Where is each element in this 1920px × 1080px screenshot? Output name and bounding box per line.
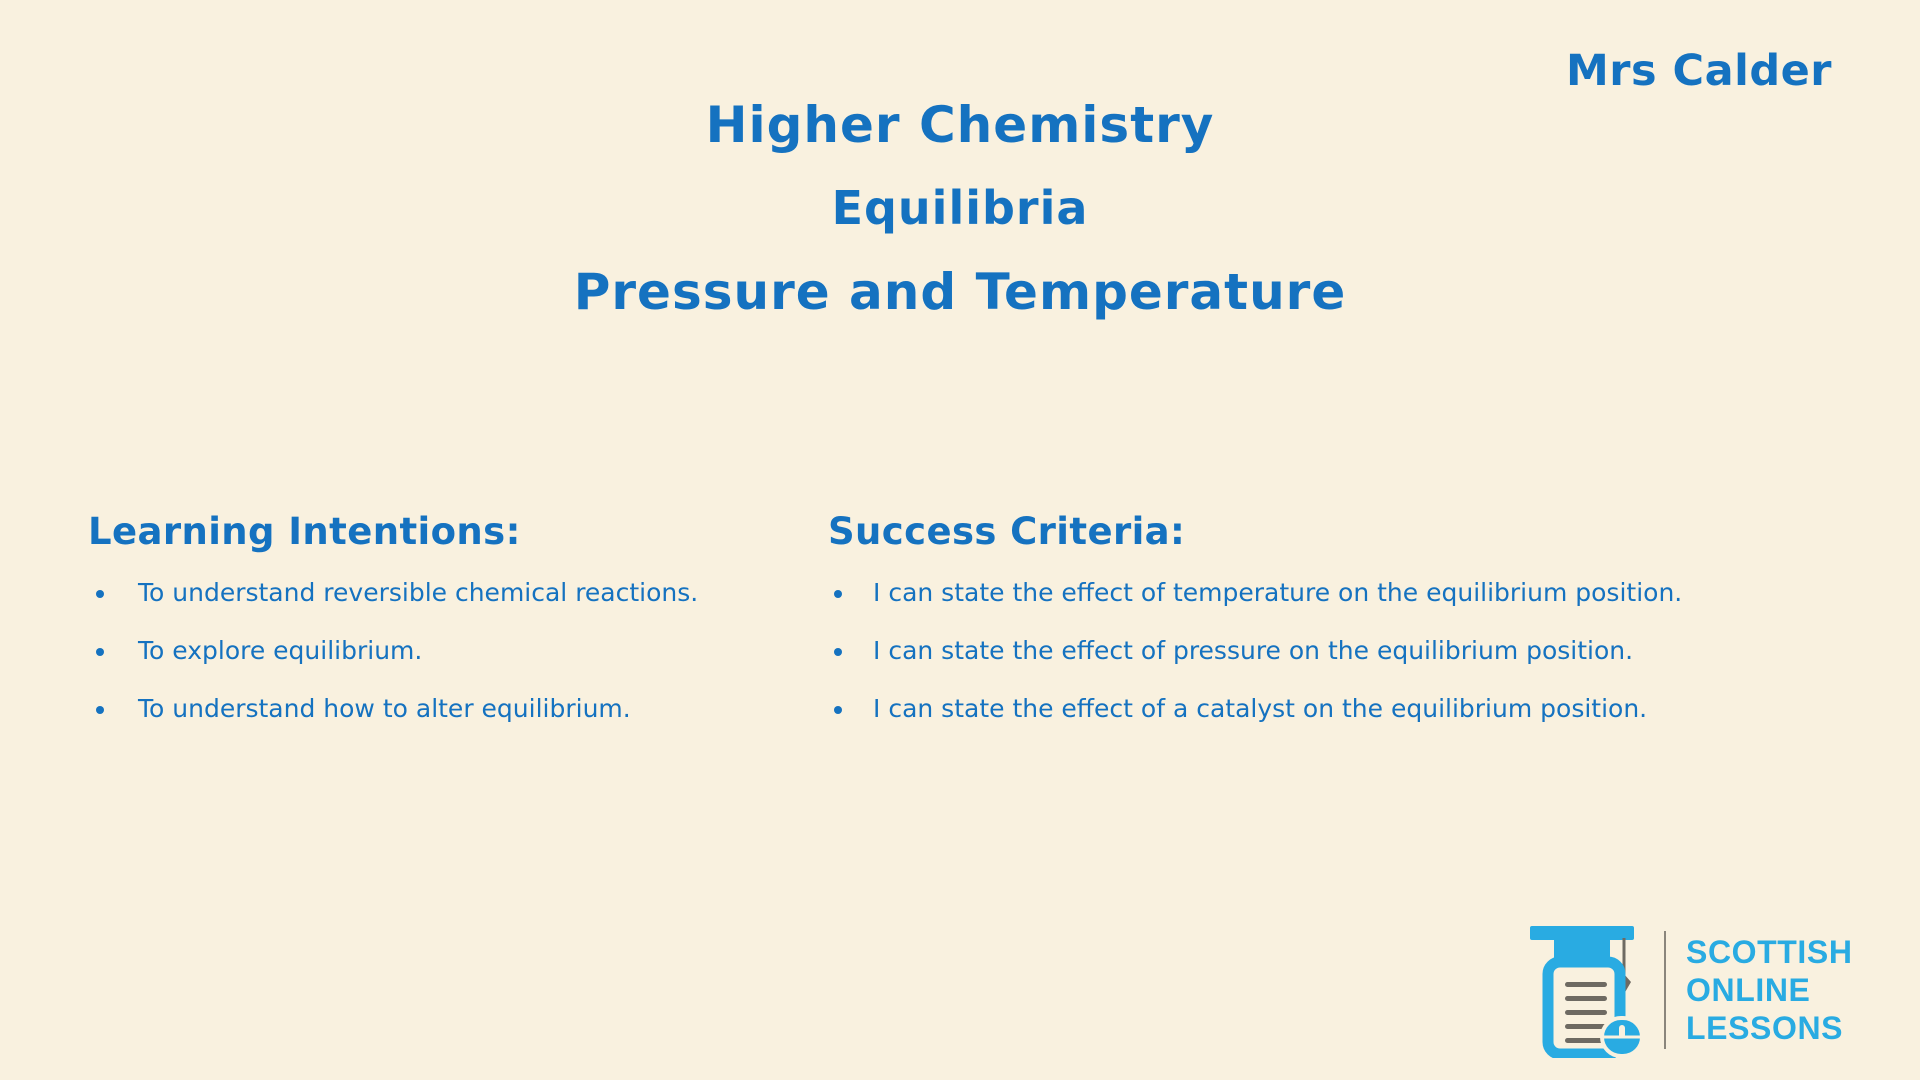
presenter-name: Mrs Calder <box>1566 50 1832 93</box>
list-item-label: To understand how to alter equilibrium. <box>138 694 631 723</box>
list-item: To understand how to alter equilibrium. <box>88 692 770 725</box>
learning-intentions-column: Learning Intentions: To understand rever… <box>0 510 770 725</box>
logo-wordmark: SCOTTISH ONLINE LESSONS <box>1686 933 1853 1047</box>
list-item-label: To understand reversible chemical reacti… <box>138 578 698 607</box>
learning-intentions-list: To understand reversible chemical reacti… <box>88 576 770 725</box>
bullet-icon <box>834 706 842 714</box>
content-columns: Learning Intentions: To understand rever… <box>0 510 1920 725</box>
list-item: I can state the effect of pressure on th… <box>828 634 1920 667</box>
list-item: I can state the effect of a catalyst on … <box>828 692 1920 725</box>
bullet-icon <box>96 706 104 714</box>
scottish-online-lessons-logo: SCOTTISH ONLINE LESSONS <box>1528 920 1853 1060</box>
logo-word-line-1: SCOTTISH <box>1686 933 1853 971</box>
logo-word-line-2: ONLINE <box>1686 971 1853 1009</box>
topic-title: Pressure and Temperature <box>0 262 1920 322</box>
list-item-label: I can state the effect of temperature on… <box>873 578 1682 607</box>
learning-intentions-heading: Learning Intentions: <box>88 510 770 554</box>
logo-divider <box>1664 931 1666 1049</box>
list-item-label: To explore equilibrium. <box>138 636 422 665</box>
list-item: To explore equilibrium. <box>88 634 770 667</box>
slide-canvas: Mrs Calder Higher Chemistry Equilibria P… <box>0 0 1920 1080</box>
bullet-icon <box>834 590 842 598</box>
success-criteria-column: Success Criteria: I can state the effect… <box>770 510 1920 725</box>
title-block: Higher Chemistry Equilibria Pressure and… <box>0 96 1920 322</box>
course-title: Higher Chemistry <box>0 96 1920 154</box>
success-criteria-heading: Success Criteria: <box>828 510 1920 554</box>
graduation-cap-document-mouse-icon <box>1528 922 1650 1058</box>
success-criteria-list: I can state the effect of temperature on… <box>828 576 1920 725</box>
list-item-label: I can state the effect of a catalyst on … <box>873 694 1647 723</box>
bullet-icon <box>96 590 104 598</box>
bullet-icon <box>96 648 104 656</box>
list-item: To understand reversible chemical reacti… <box>88 576 770 609</box>
logo-word-line-3: LESSONS <box>1686 1009 1853 1047</box>
unit-title: Equilibria <box>0 180 1920 236</box>
list-item-label: I can state the effect of pressure on th… <box>873 636 1633 665</box>
bullet-icon <box>834 648 842 656</box>
list-item: I can state the effect of temperature on… <box>828 576 1920 609</box>
